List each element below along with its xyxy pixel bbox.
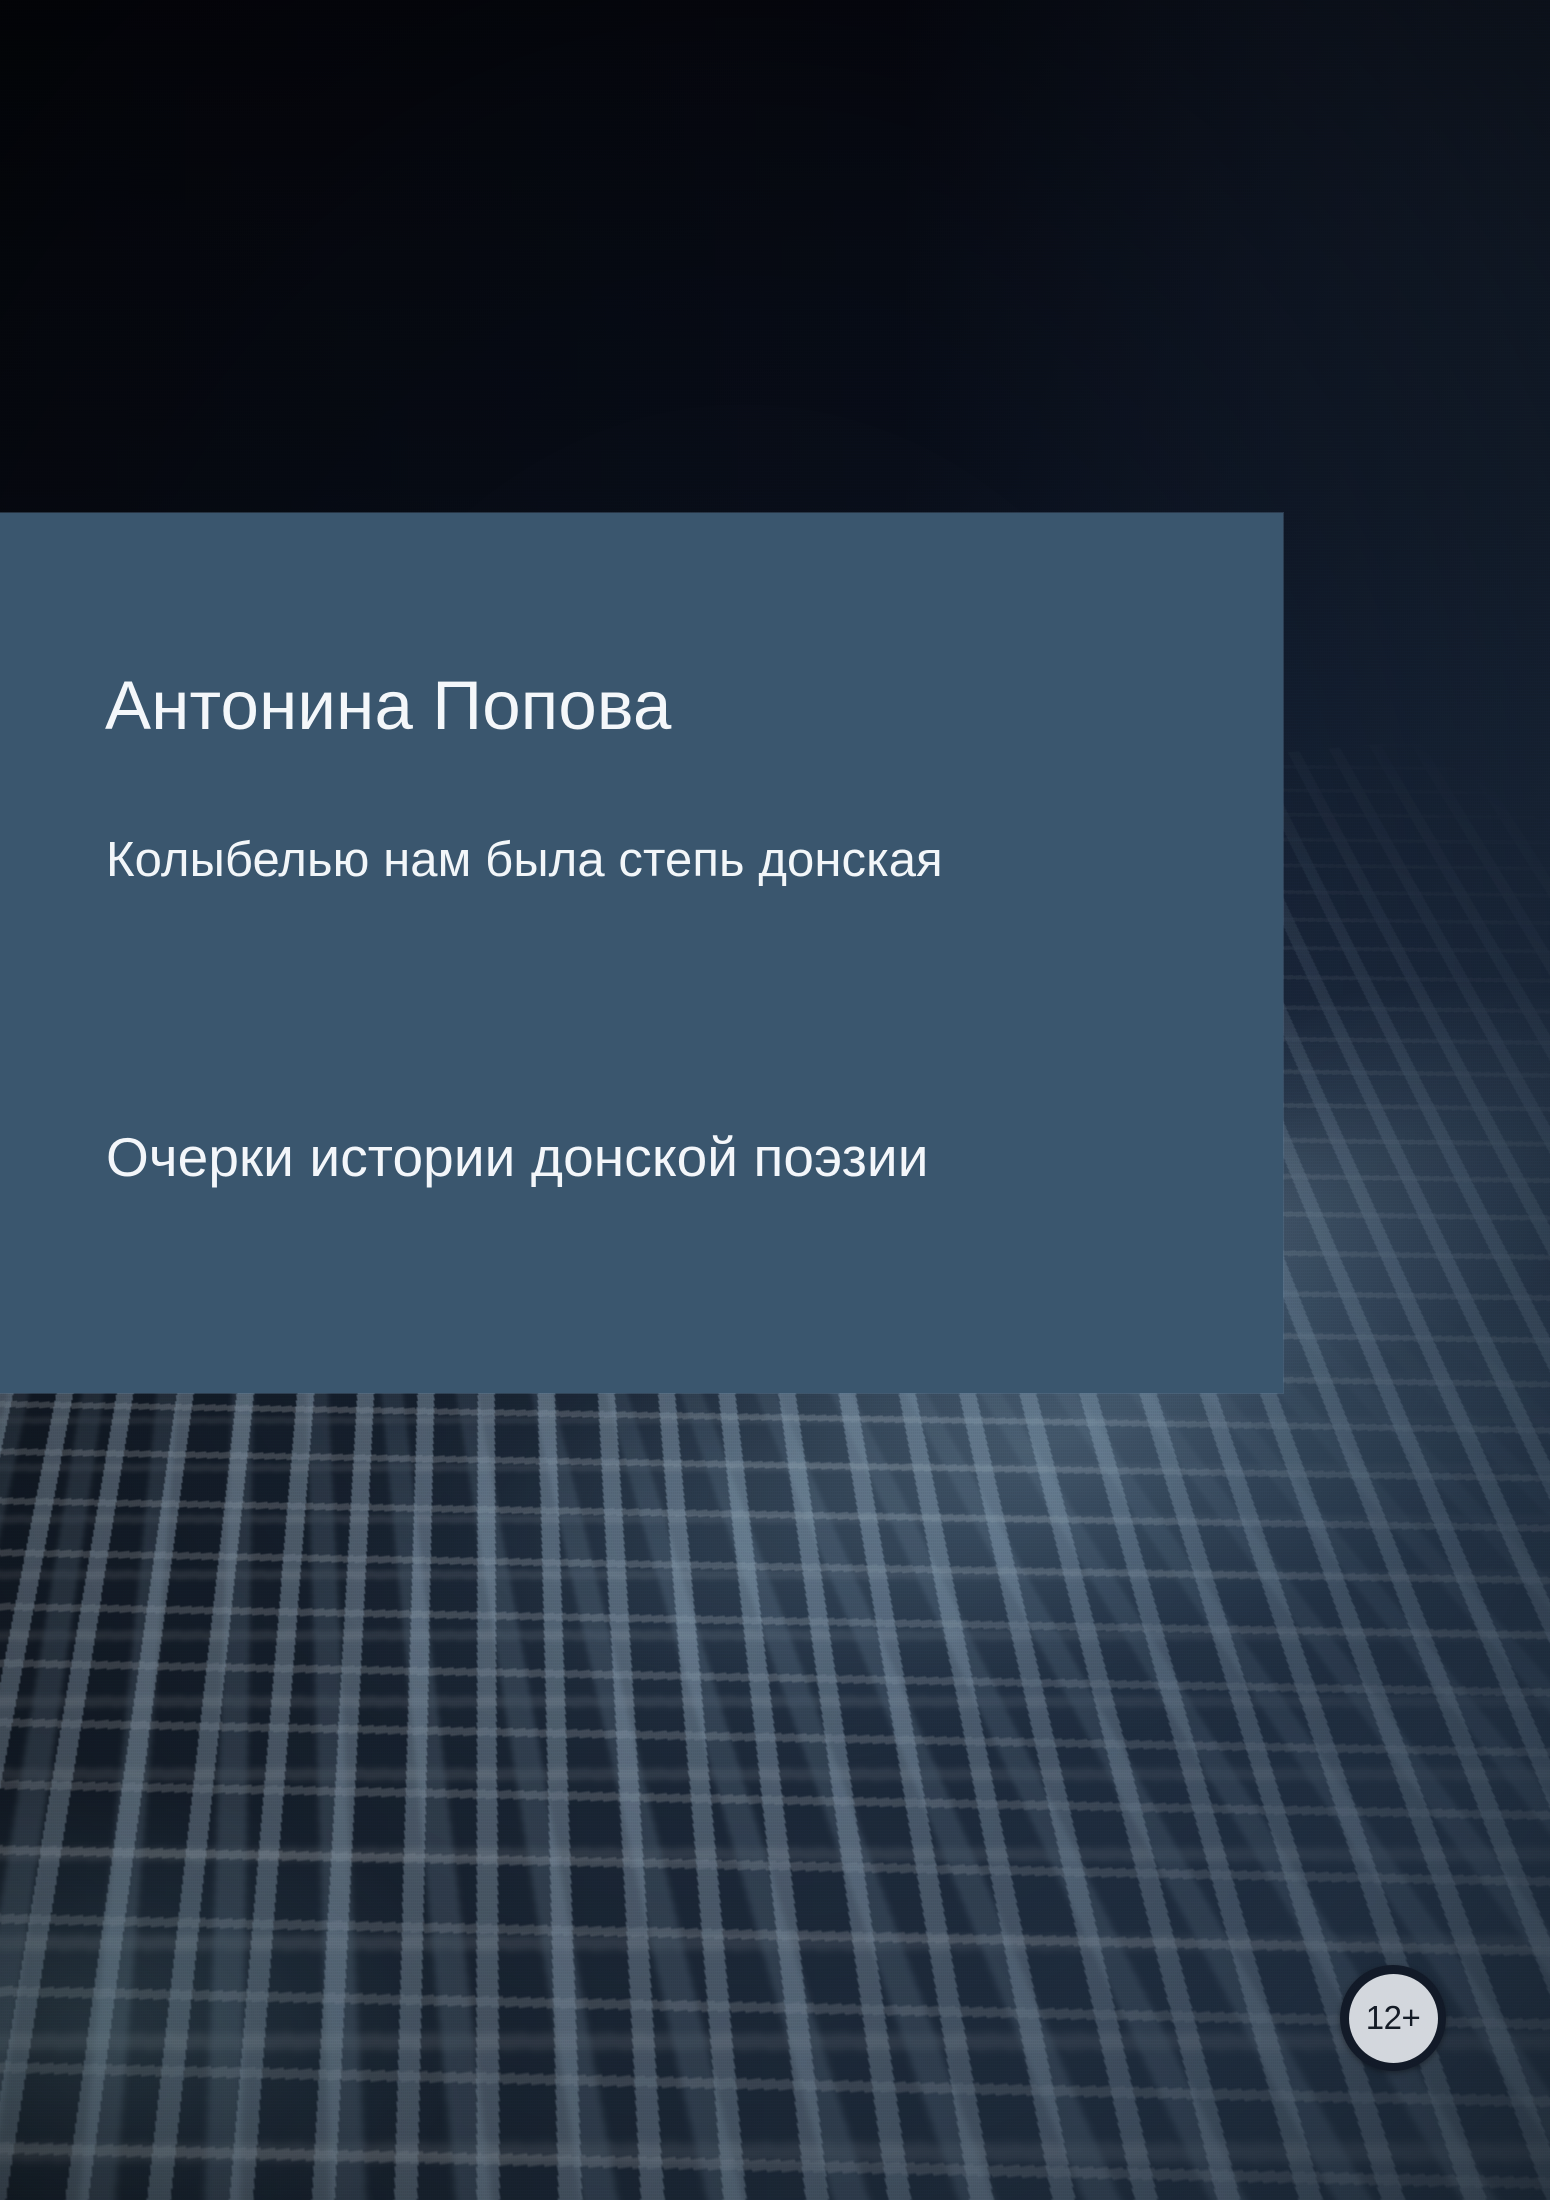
author-name: Антонина Попова [105, 671, 672, 740]
dot-grid-pattern-secondary [0, 1272, 1550, 2200]
book-cover: Антонина Попова Колыбелью нам была степь… [0, 0, 1550, 2200]
age-rating-badge-face: 12+ [1349, 1974, 1438, 2063]
book-subtitle: Очерки истории донской поэзии [106, 1130, 929, 1185]
title-panel-content: Антонина Попова Колыбелью нам была степь… [105, 513, 1223, 1393]
age-rating-label: 12+ [1366, 2001, 1420, 2034]
book-title: Колыбелью нам была степь донская [106, 836, 943, 885]
title-panel: Антонина Попова Колыбелью нам была степь… [0, 513, 1283, 1393]
age-rating-badge: 12+ [1340, 1965, 1446, 2071]
